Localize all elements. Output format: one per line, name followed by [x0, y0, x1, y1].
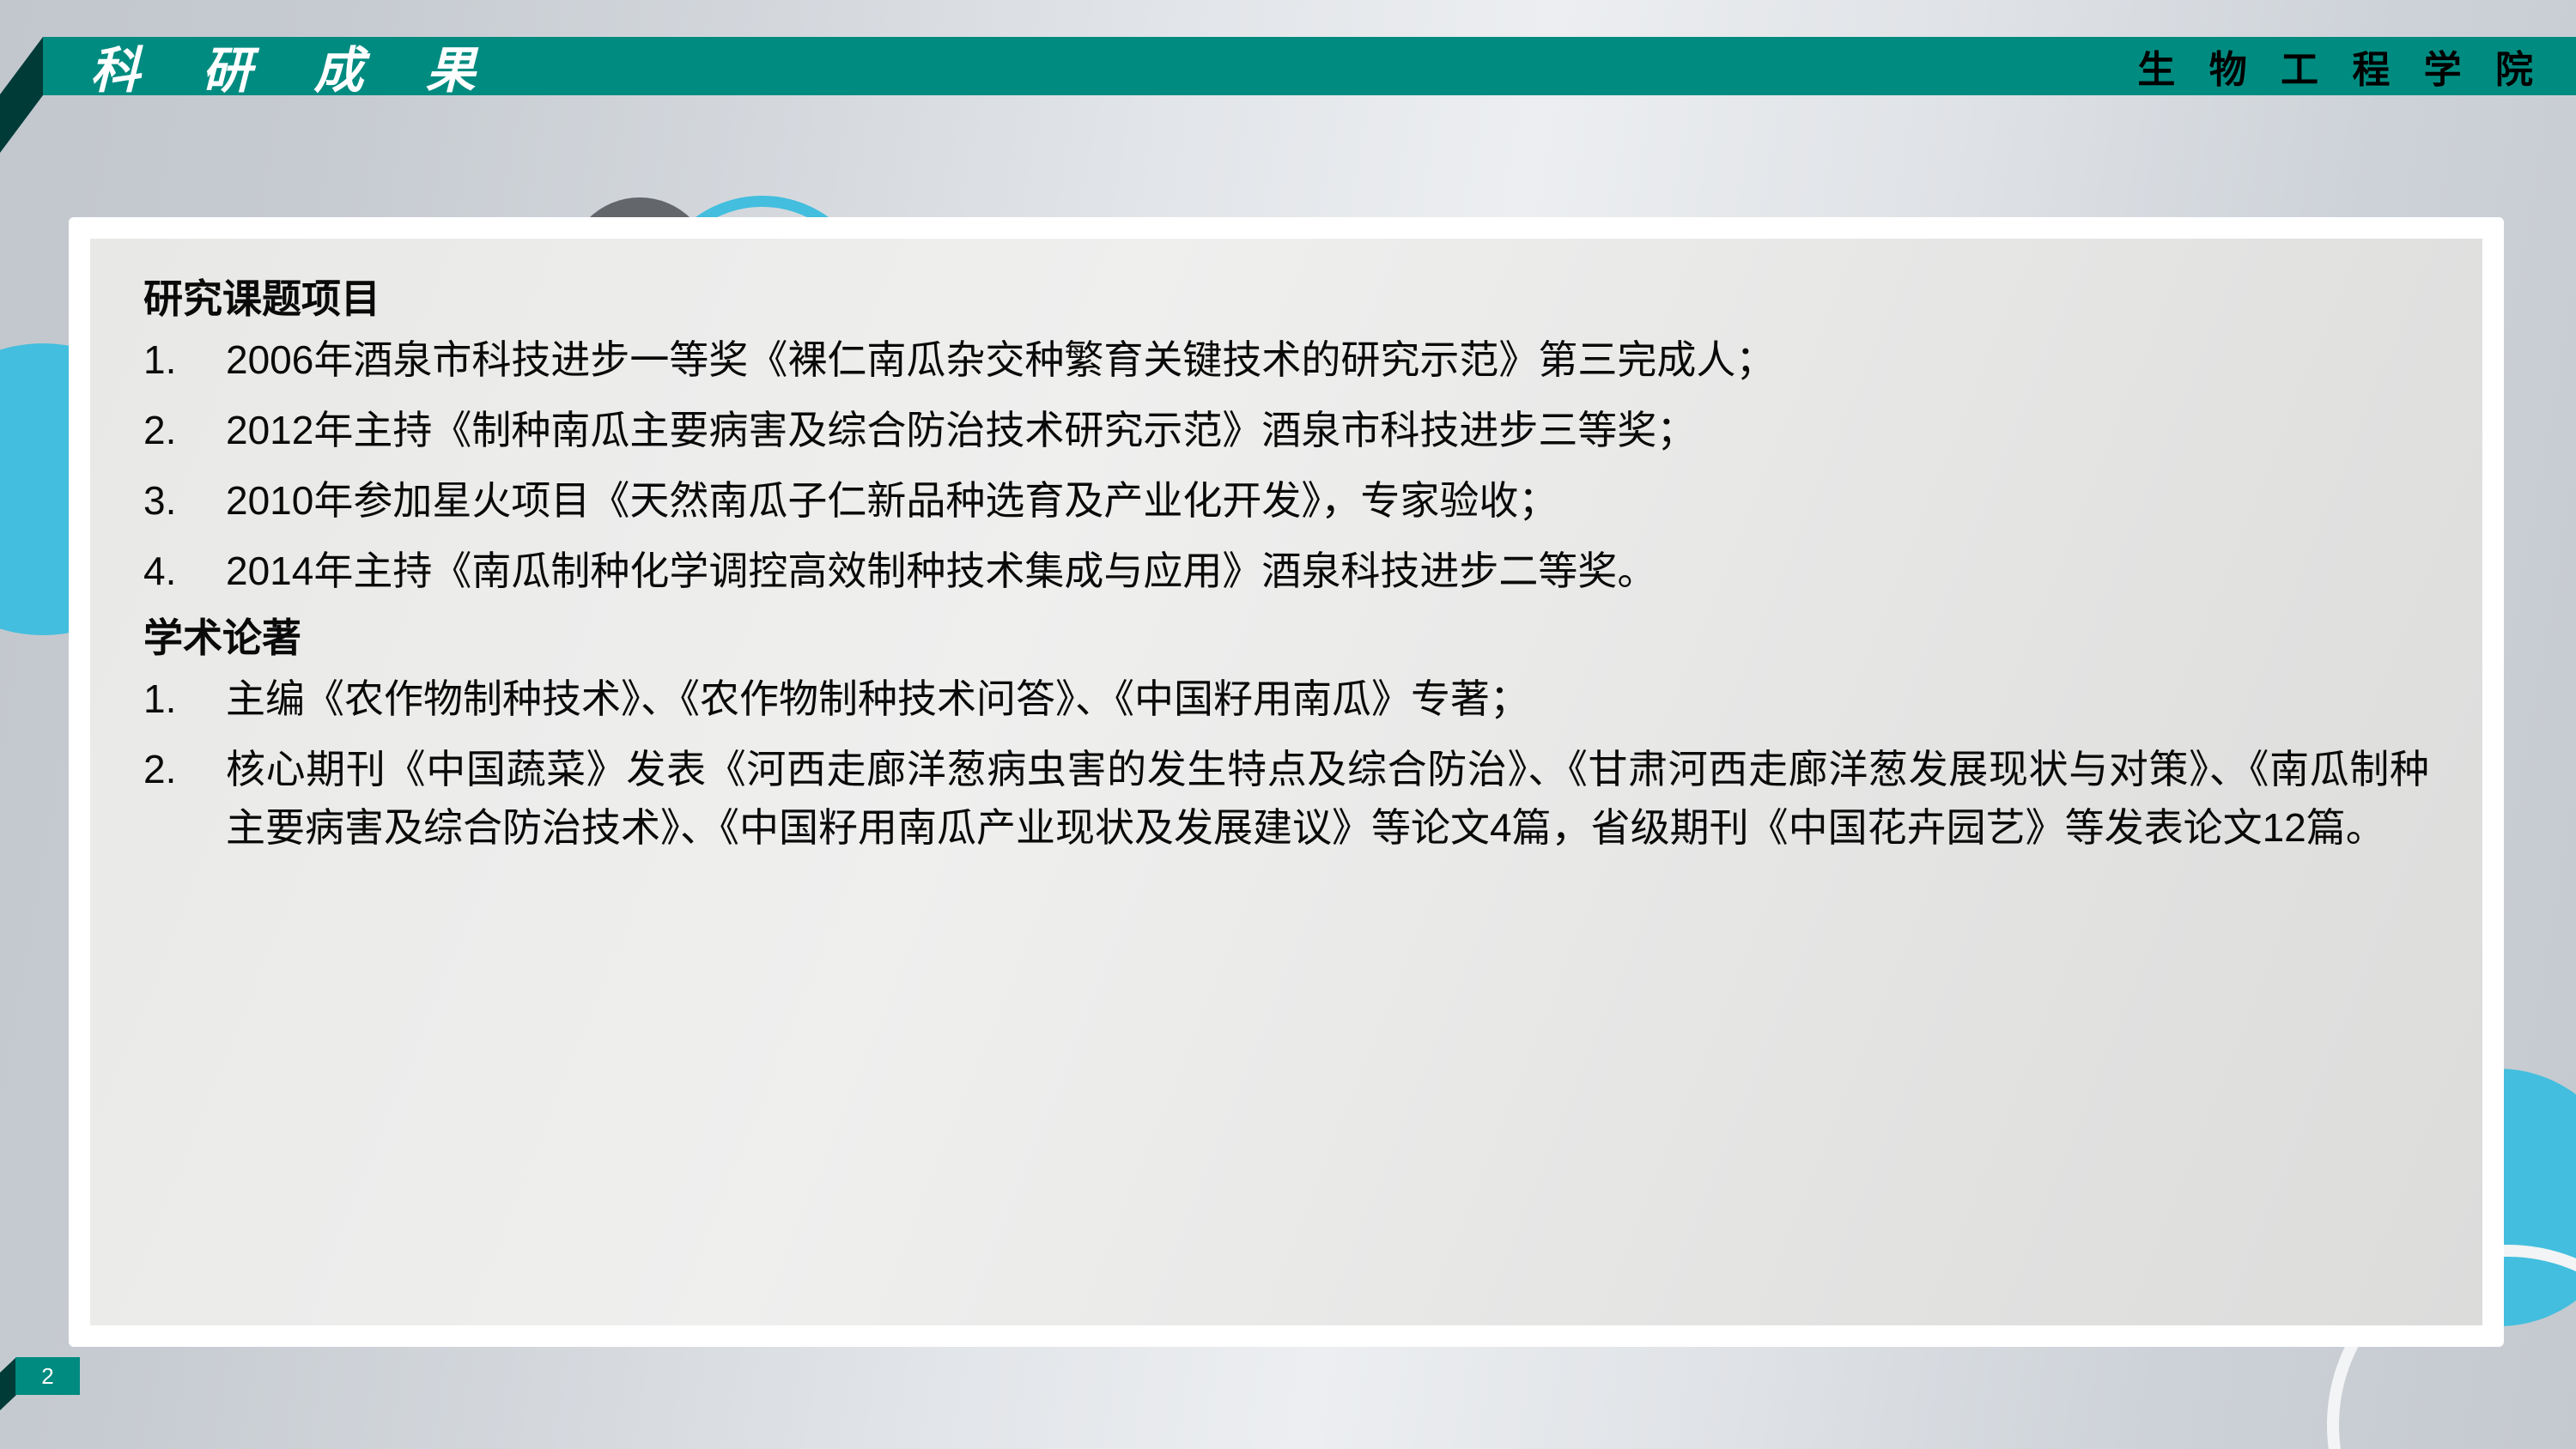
list-item-text: 2014年主持《南瓜制种化学调控高效制种技术集成与应用》酒泉科技进步二等奖。: [226, 542, 2429, 600]
page-number: 2: [15, 1357, 80, 1395]
slide-canvas: 科 研 成 果 生 物 工 程 学 院 研究课题项目 1. 2006年酒泉市科技…: [0, 0, 2576, 1449]
list-item-text: 2010年参加星火项目《天然南瓜子仁新品种选育及产业化开发》，专家验收；: [226, 471, 2429, 530]
list-item: 1. 主编《农作物制种技术》、《农作物制种技术问答》、《中国籽用南瓜》专著；: [143, 670, 2429, 728]
content-panel: 研究课题项目 1. 2006年酒泉市科技进步一等奖《裸仁南瓜杂交种繁育关键技术的…: [90, 239, 2482, 1325]
list-item: 4. 2014年主持《南瓜制种化学调控高效制种技术集成与应用》酒泉科技进步二等奖…: [143, 542, 2429, 600]
list-item-text: 2006年酒泉市科技进步一等奖《裸仁南瓜杂交种繁育关键技术的研究示范》第三完成人…: [226, 330, 2429, 389]
list-item: 2. 2012年主持《制种南瓜主要病害及综合防治技术研究示范》酒泉市科技进步三等…: [143, 401, 2429, 459]
list-item-text: 主编《农作物制种技术》、《农作物制种技术问答》、《中国籽用南瓜》专著；: [226, 670, 2429, 728]
list-item-number: 1.: [143, 330, 226, 389]
projects-list: 1. 2006年酒泉市科技进步一等奖《裸仁南瓜杂交种繁育关键技术的研究示范》第三…: [143, 330, 2429, 600]
page-number-fold-shape: [0, 1357, 16, 1410]
organization-name: 生 物 工 程 学 院: [2137, 38, 2543, 94]
list-item-text: 核心期刊《中国蔬菜》发表《河西走廊洋葱病虫害的发生特点及综合防治》、《甘肃河西走…: [226, 740, 2429, 857]
list-item: 1. 2006年酒泉市科技进步一等奖《裸仁南瓜杂交种繁育关键技术的研究示范》第三…: [143, 330, 2429, 389]
publications-list: 1. 主编《农作物制种技术》、《农作物制种技术问答》、《中国籽用南瓜》专著； 2…: [143, 670, 2429, 857]
list-item-number: 2.: [143, 401, 226, 459]
list-item-number: 4.: [143, 542, 226, 600]
header-fold-shape: [0, 37, 43, 153]
list-item: 3. 2010年参加星火项目《天然南瓜子仁新品种选育及产业化开发》，专家验收；: [143, 471, 2429, 530]
list-item-number: 1.: [143, 670, 226, 728]
section-heading-publications: 学术论著: [143, 612, 2429, 664]
list-item-number: 2.: [143, 740, 226, 798]
list-item-number: 3.: [143, 471, 226, 530]
section-heading-projects: 研究课题项目: [143, 273, 2429, 325]
content-card: 研究课题项目 1. 2006年酒泉市科技进步一等奖《裸仁南瓜杂交种繁育关键技术的…: [69, 217, 2504, 1347]
list-item: 2. 核心期刊《中国蔬菜》发表《河西走廊洋葱病虫害的发生特点及综合防治》、《甘肃…: [143, 740, 2429, 857]
list-item-text: 2012年主持《制种南瓜主要病害及综合防治技术研究示范》酒泉市科技进步三等奖；: [226, 401, 2429, 459]
page-title: 科 研 成 果: [90, 36, 498, 96]
